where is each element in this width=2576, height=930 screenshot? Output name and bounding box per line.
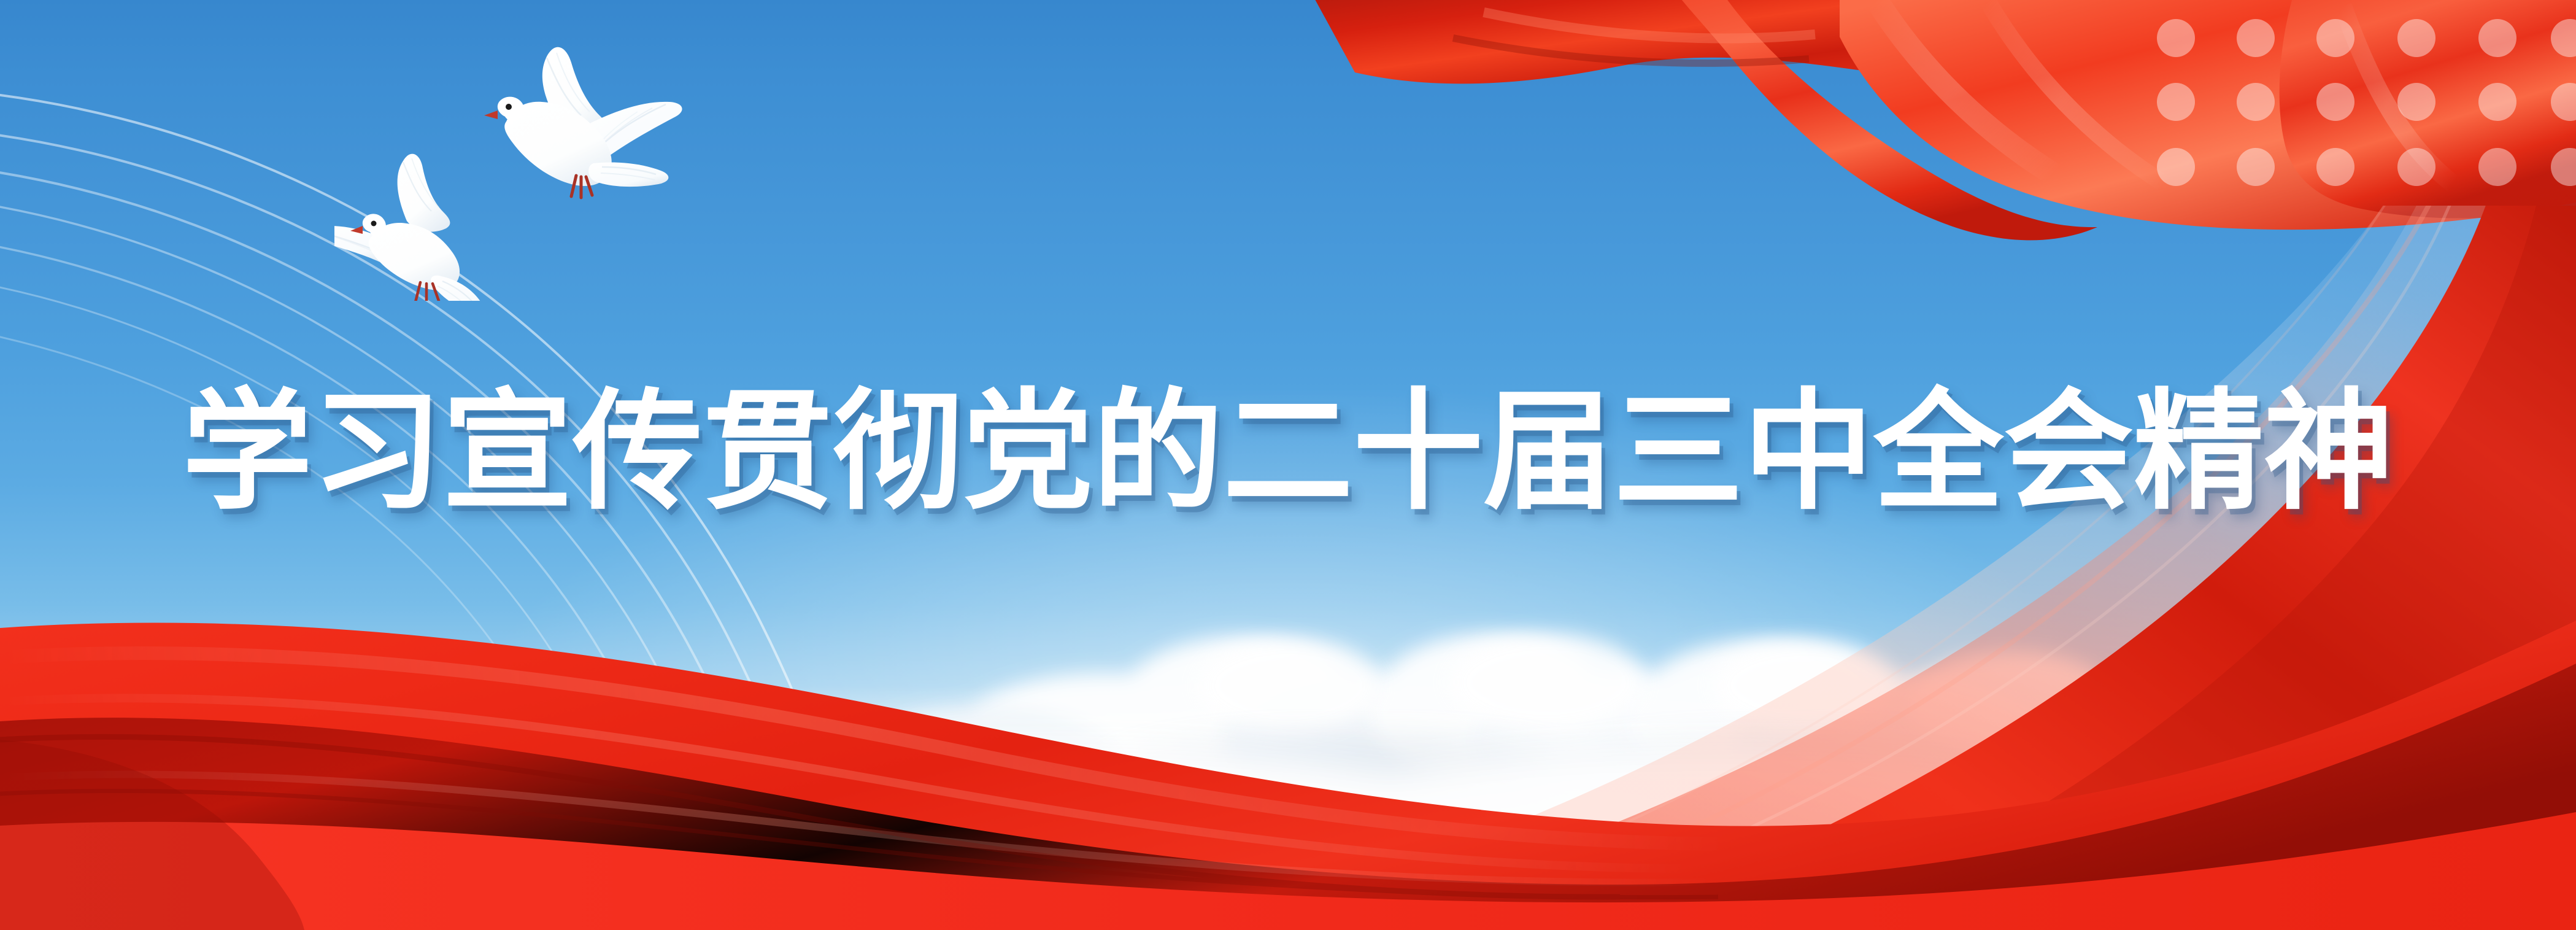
banner-canvas: 学习宣传贯彻党的二十届三中全会精神 [0, 0, 2576, 930]
sky-background [0, 0, 2576, 930]
